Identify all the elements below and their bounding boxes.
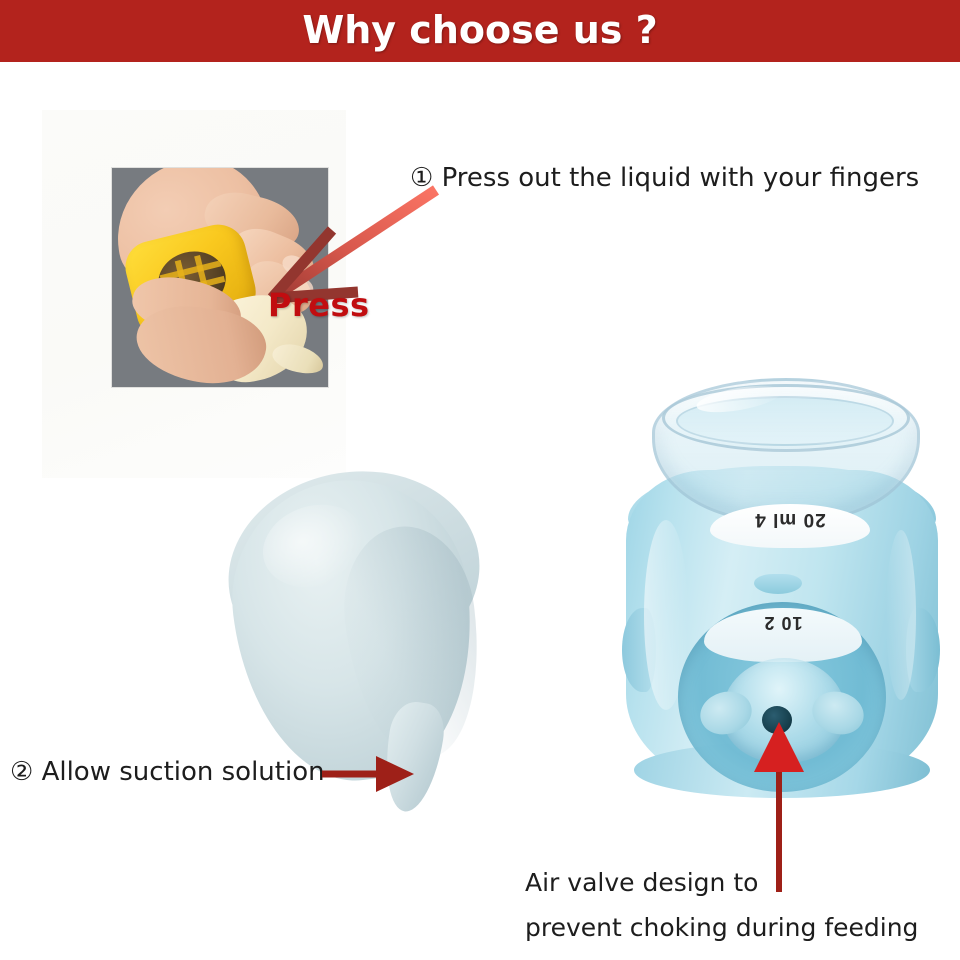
suction-arrow [322, 752, 418, 796]
air-valve-caption-line-2: prevent choking during feeding [525, 913, 918, 942]
air-valve-caption-line-1: Air valve design to [525, 868, 758, 897]
step-2-text: ② Allow suction solution [10, 757, 325, 787]
infographic-canvas: Why choose us ? [0, 0, 960, 960]
marking-top: 20 ml 4 [712, 508, 868, 530]
air-valve-arrow [750, 720, 808, 895]
press-label: Press [268, 286, 370, 324]
step-1-text: ① Press out the liquid with your fingers [410, 163, 919, 193]
page-title: Why choose us ? [0, 0, 960, 62]
bottle-highlight-right [886, 530, 916, 700]
marking-bottom: 10 2 [706, 612, 860, 633]
